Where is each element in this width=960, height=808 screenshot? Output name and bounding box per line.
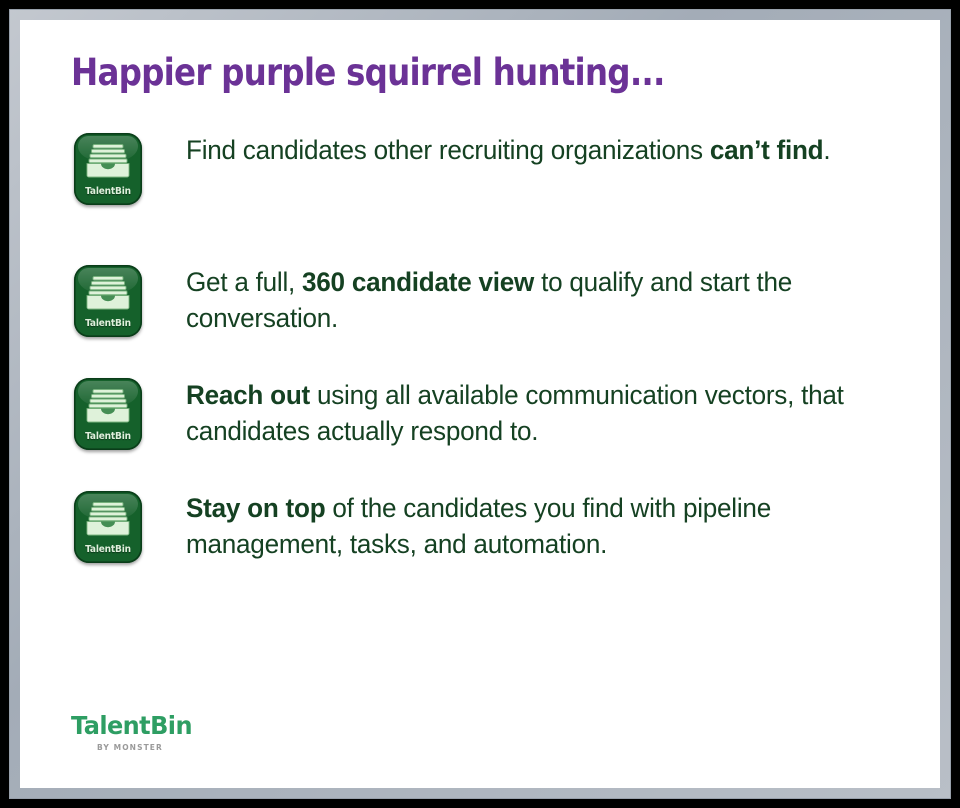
document-bin-icon [85, 144, 131, 178]
list-item: TalentBin Stay on top of the candidates … [20, 488, 940, 563]
list-item-text: Stay on top of the candidates you find w… [186, 488, 876, 562]
talentbin-app-icon: TalentBin [74, 491, 142, 563]
icon-wordmark-label: TalentBin [76, 318, 141, 329]
slide-outer-matte: Happier purple squirrel hunting... [0, 0, 960, 808]
list-item: TalentBin Find candidates other recruiti… [20, 130, 940, 205]
footer-brand-logo: TalentBin BY MONSTER [71, 713, 197, 752]
list-item-text: Find candidates other recruiting organiz… [186, 130, 876, 168]
talentbin-app-icon: TalentBin [74, 265, 142, 337]
talentbin-app-icon: TalentBin [74, 378, 142, 450]
icon-wordmark-label: TalentBin [76, 186, 141, 197]
list-item-text: Reach out using all available communicat… [186, 375, 876, 449]
document-bin-icon [85, 502, 131, 536]
document-bin-icon [85, 389, 131, 423]
document-bin-icon [85, 276, 131, 310]
icon-wordmark-label: TalentBin [76, 544, 141, 555]
list-item: TalentBin Get a full, 360 candidate view… [20, 262, 940, 337]
slide-bevel-frame: Happier purple squirrel hunting... [9, 9, 951, 799]
page-title: Happier purple squirrel hunting... [71, 51, 665, 94]
footer-wordmark: TalentBin [71, 713, 192, 738]
list-item: TalentBin Reach out using all available … [20, 375, 940, 450]
list-item-text: Get a full, 360 candidate view to qualif… [186, 262, 876, 336]
benefit-list: TalentBin Find candidates other recruiti… [20, 130, 940, 563]
talentbin-app-icon: TalentBin [74, 133, 142, 205]
icon-wordmark-label: TalentBin [76, 431, 141, 442]
slide-canvas: Happier purple squirrel hunting... [20, 20, 940, 788]
footer-byline: BY MONSTER [97, 743, 197, 752]
